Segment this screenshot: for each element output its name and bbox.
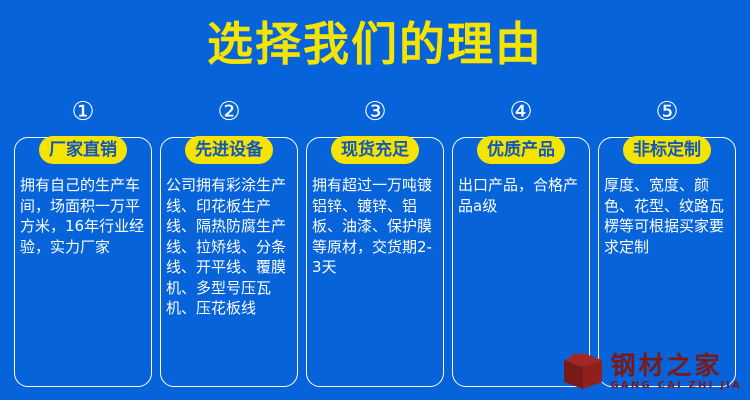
reason-card: ③ 现货充足 拥有超过一万吨镀铝锌、镀锌、铝板、油漆、保护膜等原材，交货期2-3… (306, 95, 444, 387)
card-badge: 先进设备 (185, 136, 273, 164)
card-number: ③ (306, 95, 444, 129)
reason-card: ⑤ 非标定制 厚度、宽度、颜色、花型、纹路瓦楞等可根据买家要求定制 (598, 95, 736, 387)
box-cube-icon (561, 351, 605, 393)
card-body-text: 拥有自己的生产车间，场面积一万平方米，16年行业经验，实力厂家 (20, 175, 146, 257)
card-number: ② (160, 95, 298, 129)
card-badge: 厂家直销 (39, 136, 127, 164)
brand-name-cn: 钢材之家 (611, 353, 743, 379)
card-body-text: 出口产品，合格产品a级 (458, 175, 584, 216)
poster-root: 选择我们的理由 ① 厂家直销 拥有自己的生产车间，场面积一万平方米，16年行业经… (0, 0, 750, 400)
card-badge: 现货充足 (331, 136, 419, 164)
card-number: ④ (452, 95, 590, 129)
page-title: 选择我们的理由 (0, 16, 750, 74)
reason-card: ④ 优质产品 出口产品，合格产品a级 (452, 95, 590, 387)
reason-card: ② 先进设备 公司拥有彩涂生产线、印花板生产线、隔热防腐生产线、拉矫线、分条线、… (160, 95, 298, 387)
card-number: ⑤ (598, 95, 736, 129)
card-body-text: 公司拥有彩涂生产线、印花板生产线、隔热防腐生产线、拉矫线、分条线、开平线、覆膜机… (166, 175, 292, 319)
brand-logo-text: 钢材之家 GANG CAI ZHI JIA (611, 353, 743, 392)
reason-card: ① 厂家直销 拥有自己的生产车间，场面积一万平方米，16年行业经验，实力厂家 (14, 95, 152, 387)
card-badge: 非标定制 (623, 136, 711, 164)
brand-logo: 钢材之家 GANG CAI ZHI JIA (561, 348, 743, 396)
card-number: ① (14, 95, 152, 129)
brand-name-en: GANG CAI ZHI JIA (611, 379, 743, 392)
card-body-text: 拥有超过一万吨镀铝锌、镀锌、铝板、油漆、保护膜等原材，交货期2-3天 (312, 175, 438, 278)
card-badge: 优质产品 (477, 136, 565, 164)
card-body-text: 厚度、宽度、颜色、花型、纹路瓦楞等可根据买家要求定制 (604, 175, 730, 257)
reasons-card-row: ① 厂家直销 拥有自己的生产车间，场面积一万平方米，16年行业经验，实力厂家 ②… (14, 95, 736, 387)
